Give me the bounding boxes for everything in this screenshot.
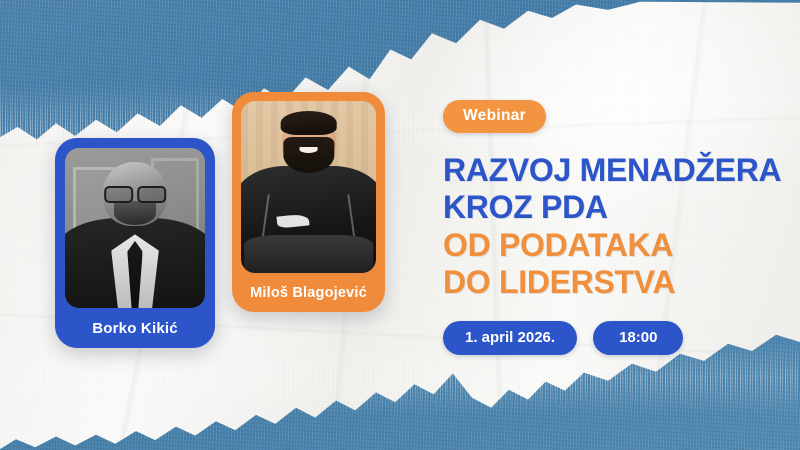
speaker-photo-borko — [65, 148, 205, 308]
photo-smile — [299, 147, 318, 154]
photo-beard — [283, 137, 334, 173]
headline-line-4: DO LIDERSTVA — [443, 264, 788, 301]
event-date-badge: 1. april 2026. — [443, 321, 577, 355]
headline-line-3: OD PODATAKA — [443, 227, 788, 264]
speaker-photo-milos — [241, 101, 376, 273]
speaker-card-milos: Miloš Blagojević — [232, 92, 385, 312]
speaker-name-borko: Borko Kikić — [92, 308, 178, 348]
content-column: Webinar RAZVOJ MENADŽERA KROZ PDA OD POD… — [443, 100, 788, 355]
photo-crossed-arms — [244, 235, 374, 273]
headline: RAZVOJ MENADŽERA KROZ PDA OD PODATAKA DO… — [443, 152, 788, 302]
photo-beard — [114, 201, 156, 225]
headline-line-2: KROZ PDA — [443, 189, 788, 226]
photo-hair — [280, 111, 337, 135]
webinar-poster: Borko Kikić Miloš Blagojević Webinar RAZ… — [0, 0, 800, 450]
event-meta-row: 1. april 2026. 18:00 — [443, 321, 788, 355]
event-time-badge: 18:00 — [593, 321, 683, 355]
headline-line-1: RAZVOJ MENADŽERA — [443, 152, 788, 189]
photo-eyeglasses — [104, 186, 166, 199]
speaker-card-borko: Borko Kikić — [55, 138, 215, 348]
webinar-badge: Webinar — [443, 100, 546, 133]
speaker-name-milos: Miloš Blagojević — [250, 273, 367, 312]
